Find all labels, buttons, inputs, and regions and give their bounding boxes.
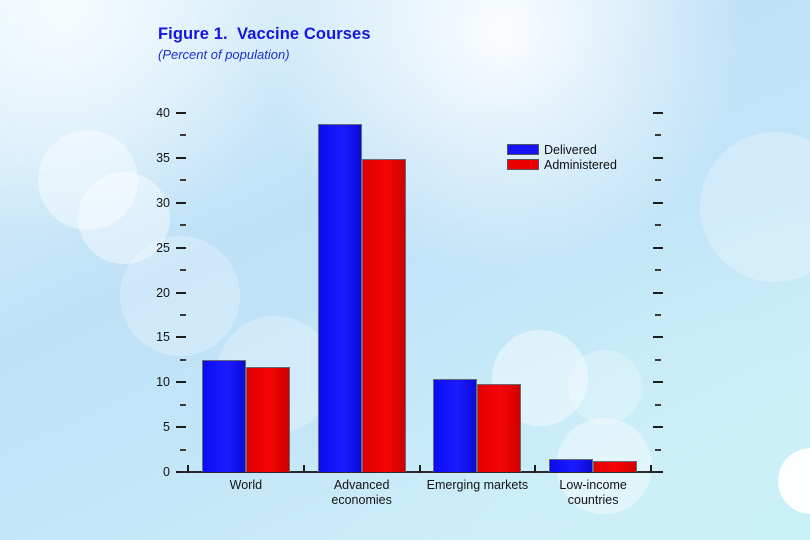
x-axis-category-label: Emerging markets <box>414 478 542 493</box>
y-axis-major-tick-right <box>653 157 663 159</box>
background-bubble <box>778 448 810 514</box>
y-axis-minor-tick-right <box>655 179 661 181</box>
y-axis-minor-tick-right <box>655 224 661 226</box>
y-axis-major-tick-right <box>653 426 663 428</box>
bar-administered <box>246 367 290 472</box>
y-axis-minor-tick-right <box>655 359 661 361</box>
x-axis-category-label: World <box>182 478 310 493</box>
bar-administered <box>593 461 637 472</box>
x-axis-tick <box>650 465 652 473</box>
bar-administered <box>362 159 406 472</box>
y-axis-minor-tick-right <box>655 314 661 316</box>
y-axis-tick-label: 30 <box>146 196 170 210</box>
y-axis-minor-tick-right <box>655 449 661 451</box>
legend-item: Delivered <box>507 142 617 157</box>
legend-swatch-administered <box>507 159 539 170</box>
y-axis-minor-tick <box>180 224 186 226</box>
chart-legend: DeliveredAdministered <box>507 142 617 172</box>
y-axis-minor-tick <box>180 359 186 361</box>
y-axis-tick-label: 25 <box>146 241 170 255</box>
x-axis-tick <box>303 465 305 473</box>
y-axis-major-tick <box>176 292 186 294</box>
y-axis-major-tick-right <box>653 381 663 383</box>
y-axis-minor-tick <box>180 269 186 271</box>
bar-delivered <box>433 379 477 472</box>
y-axis-minor-tick-right <box>655 404 661 406</box>
page-title: Figure 1. Vaccine Courses <box>158 25 371 44</box>
y-axis-tick-label: 5 <box>146 420 170 434</box>
y-axis-major-tick <box>176 202 186 204</box>
x-axis-tick <box>187 465 189 473</box>
title-block: Figure 1. Vaccine Courses (Percent of po… <box>158 25 371 62</box>
x-axis-category-label: Advanced economies <box>298 478 426 508</box>
y-axis-major-tick <box>176 247 186 249</box>
y-axis-minor-tick <box>180 404 186 406</box>
x-axis-tick <box>534 465 536 473</box>
y-axis-major-tick <box>176 426 186 428</box>
y-axis-minor-tick <box>180 134 186 136</box>
bar-delivered <box>202 360 246 472</box>
bar-delivered <box>318 124 362 472</box>
y-axis-major-tick-right <box>653 112 663 114</box>
y-axis-major-tick-right <box>653 336 663 338</box>
legend-item: Administered <box>507 157 617 172</box>
y-axis-major-tick-right <box>653 292 663 294</box>
y-axis-major-tick <box>176 112 186 114</box>
bar-delivered <box>549 459 593 472</box>
bar-administered <box>477 384 521 472</box>
y-axis-minor-tick <box>180 179 186 181</box>
chart-subtitle: (Percent of population) <box>158 47 371 62</box>
y-axis-minor-tick <box>180 449 186 451</box>
y-axis-tick-label: 35 <box>146 151 170 165</box>
y-axis-major-tick <box>176 157 186 159</box>
y-axis-tick-label: 0 <box>146 465 170 479</box>
y-axis-tick-label: 20 <box>146 286 170 300</box>
y-axis-tick-label: 15 <box>146 330 170 344</box>
y-axis-tick-label: 10 <box>146 375 170 389</box>
y-axis-major-tick-right <box>653 202 663 204</box>
legend-label: Administered <box>544 158 617 172</box>
background-bubble <box>38 130 138 230</box>
y-axis-tick-label: 40 <box>146 106 170 120</box>
y-axis-major-tick <box>176 336 186 338</box>
legend-swatch-delivered <box>507 144 539 155</box>
slide-canvas: Figure 1. Vaccine Courses (Percent of po… <box>0 0 810 540</box>
background-bubble <box>700 132 810 282</box>
x-axis-tick <box>419 465 421 473</box>
y-axis-minor-tick <box>180 314 186 316</box>
y-axis-major-tick <box>176 381 186 383</box>
legend-label: Delivered <box>544 143 597 157</box>
x-axis-category-label: Low-income countries <box>529 478 657 508</box>
y-axis-major-tick-right <box>653 247 663 249</box>
y-axis-labels: 4035302520151050 <box>146 0 170 540</box>
y-axis-minor-tick-right <box>655 134 661 136</box>
y-axis-minor-tick-right <box>655 269 661 271</box>
